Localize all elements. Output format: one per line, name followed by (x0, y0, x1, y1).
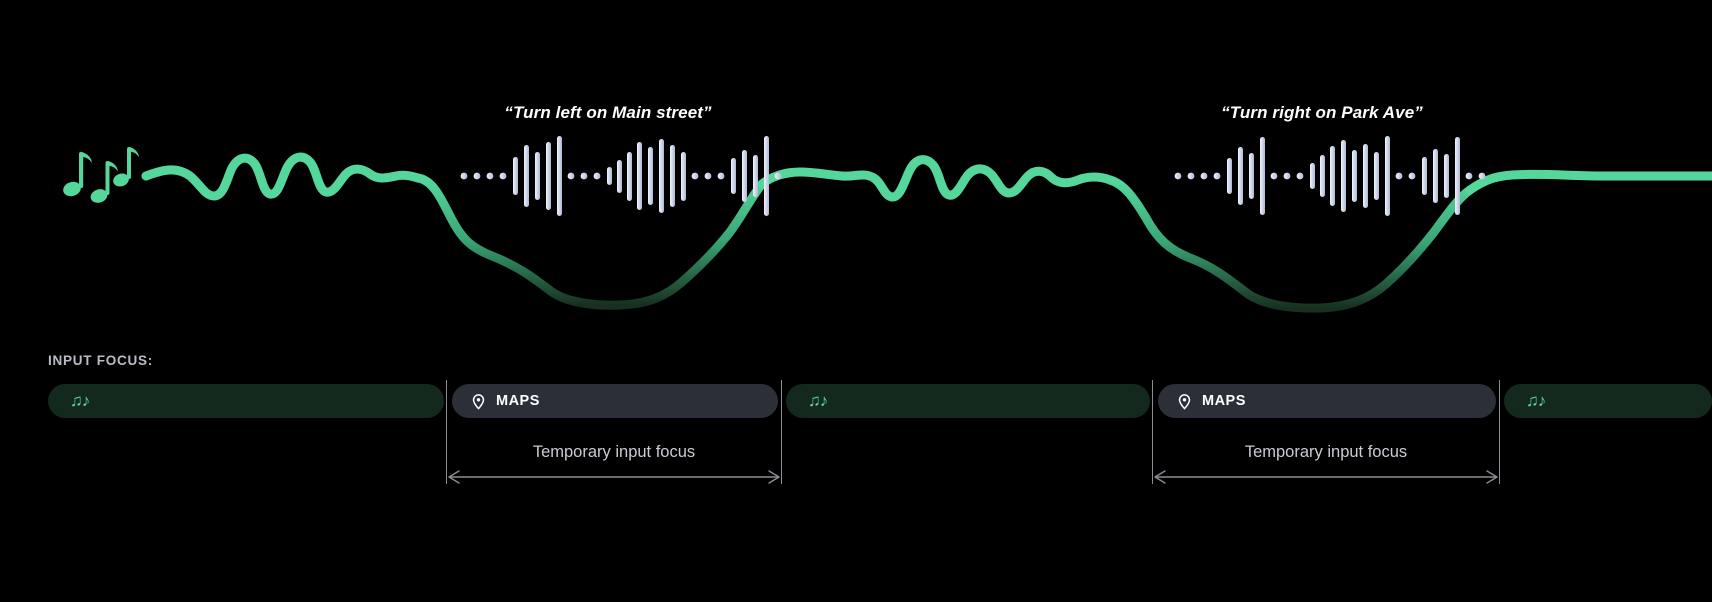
voice-caption-2: “Turn right on Park Ave” (1022, 103, 1622, 123)
waveform-area: “Turn left on Main street” “Turn right o… (0, 0, 1712, 340)
input-focus-label: INPUT FOCUS: (48, 353, 153, 368)
timeline-pill-music-2[interactable]: ♫♪ (786, 384, 1150, 418)
temporary-focus-text: Temporary input focus (447, 443, 781, 462)
voice-waveform-2 (1175, 136, 1486, 216)
music-wave-duck-1 (418, 178, 762, 305)
map-pin-icon (1176, 393, 1193, 410)
temporary-focus-text: Temporary input focus (1153, 443, 1499, 462)
temporary-focus-span-2: Temporary input focus (1153, 443, 1499, 485)
music-notes-icon (61, 147, 139, 205)
temporary-focus-span-1: Temporary input focus (447, 443, 781, 485)
music-notes-icon: ♫♪ (70, 392, 89, 409)
temporary-focus-arrow (447, 469, 781, 485)
music-notes-icon: ♫♪ (808, 392, 827, 409)
timeline-pill-music-3[interactable]: ♫♪ (1504, 384, 1712, 418)
music-wave-segment-1 (146, 157, 418, 196)
voice-waveform-1 (461, 136, 782, 216)
waveform-svg (0, 0, 1712, 340)
maps-pill-label: MAPS (1202, 393, 1246, 409)
timeline-divider (1499, 380, 1500, 484)
maps-pill-label: MAPS (496, 393, 540, 409)
timeline-pill-maps-1[interactable]: MAPS (452, 384, 778, 418)
voice-caption-1: “Turn left on Main street” (308, 103, 908, 123)
map-pin-icon (470, 393, 487, 410)
audio-focus-diagram: “Turn left on Main street” “Turn right o… (0, 0, 1712, 602)
music-wave-segment-3 (1470, 174, 1712, 190)
timeline-pill-maps-2[interactable]: MAPS (1158, 384, 1496, 418)
timeline-divider (781, 380, 782, 484)
temporary-focus-arrow (1153, 469, 1499, 485)
music-wave-segment-2 (762, 160, 1110, 197)
music-wave-duck-2 (1110, 180, 1470, 308)
music-notes-icon: ♫♪ (1526, 392, 1545, 409)
timeline-pill-music-1[interactable]: ♫♪ (48, 384, 444, 418)
